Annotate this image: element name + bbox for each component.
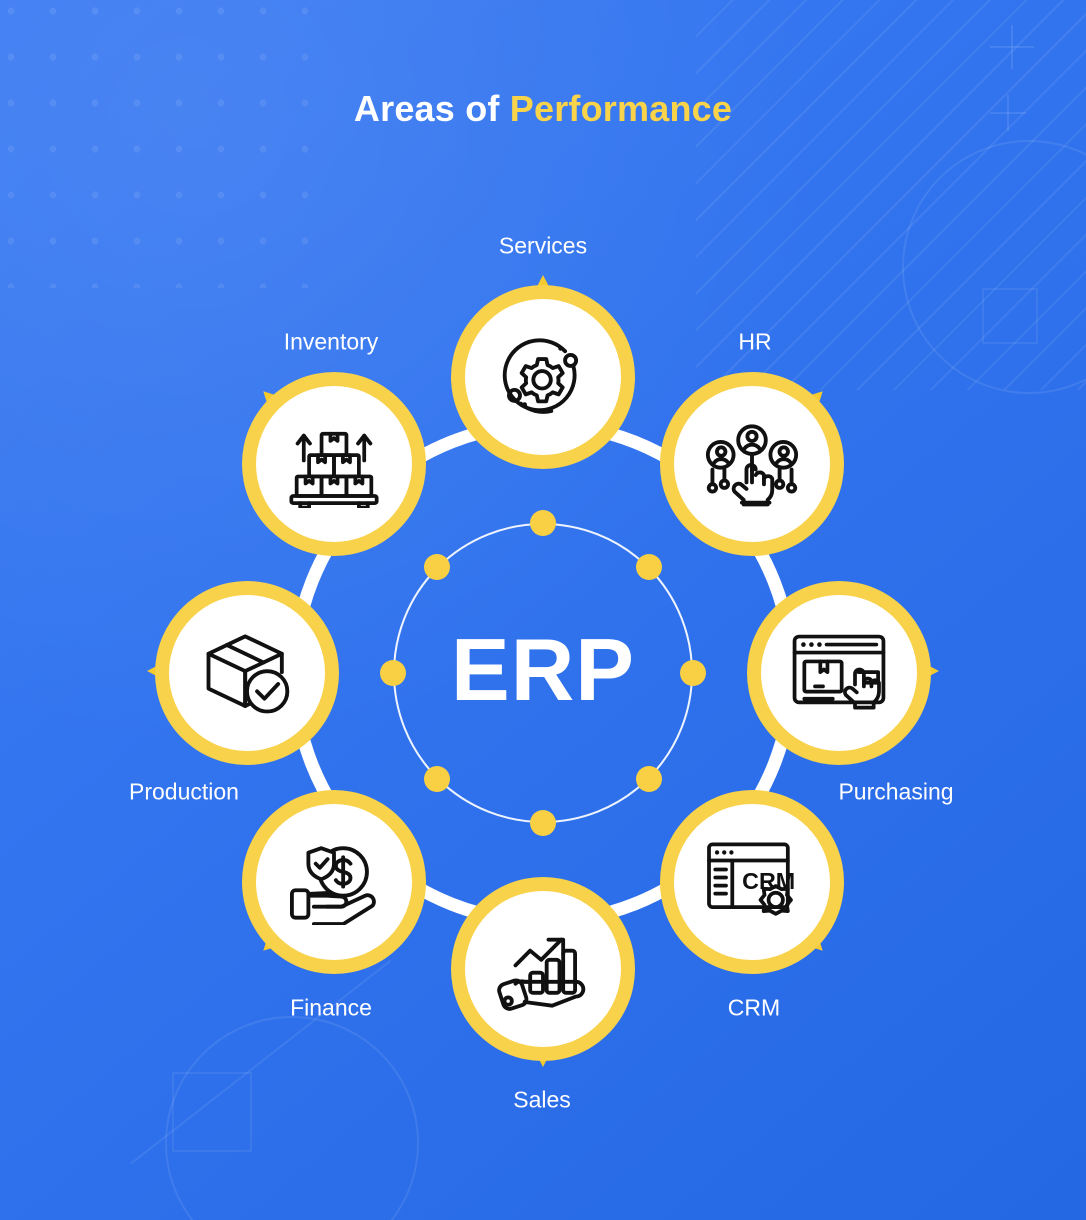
node-pin bbox=[242, 372, 426, 556]
node-pin bbox=[660, 372, 844, 556]
circle-outline-decoration bbox=[902, 140, 1086, 394]
node-label-purchasing: Purchasing bbox=[838, 779, 953, 806]
infographic-canvas: Areas of Performance ERP bbox=[0, 0, 1086, 1220]
ring-dot bbox=[636, 554, 662, 580]
crm-dashboard-icon: CRM bbox=[674, 804, 830, 960]
gear-orbit-icon bbox=[465, 299, 621, 455]
node-pin bbox=[242, 790, 426, 974]
online-order-icon bbox=[761, 595, 917, 751]
node-disc bbox=[451, 285, 635, 469]
square-outline-decoration bbox=[982, 288, 1038, 344]
title-highlight: Performance bbox=[510, 88, 732, 129]
people-network-icon bbox=[674, 386, 830, 542]
node-pin bbox=[747, 581, 931, 765]
dot-grid-pattern bbox=[0, 0, 320, 288]
node-pin bbox=[155, 581, 339, 765]
node-disc bbox=[451, 877, 635, 1061]
node-disc bbox=[747, 581, 931, 765]
node-disc bbox=[155, 581, 339, 765]
stacked-boxes-icon bbox=[256, 386, 412, 542]
node-label-crm: CRM bbox=[728, 995, 780, 1022]
sales-growth-icon bbox=[465, 891, 621, 1047]
node-disc bbox=[242, 372, 426, 556]
node-disc: CRM bbox=[660, 790, 844, 974]
center-label: ERP bbox=[383, 620, 703, 720]
node-label-sales: Sales bbox=[513, 1087, 571, 1114]
circle-outline-decoration bbox=[165, 1016, 419, 1220]
node-label-production: Production bbox=[129, 779, 239, 806]
node-label-services: Services bbox=[499, 233, 587, 260]
box-check-icon bbox=[169, 595, 325, 751]
ring-dot bbox=[680, 660, 706, 686]
ring-dot bbox=[380, 660, 406, 686]
node-pin: CRM bbox=[660, 790, 844, 974]
square-outline-decoration bbox=[172, 1072, 252, 1152]
ring-dot bbox=[530, 810, 556, 836]
node-label-inventory: Inventory bbox=[284, 329, 379, 356]
money-shield-icon bbox=[256, 804, 412, 960]
node-label-finance: Finance bbox=[290, 995, 372, 1022]
node-disc bbox=[242, 790, 426, 974]
page-title: Areas of Performance bbox=[0, 88, 1086, 130]
node-label-hr: HR bbox=[738, 329, 771, 356]
ring-dot bbox=[530, 510, 556, 536]
ring-dot bbox=[424, 554, 450, 580]
diagonal-line-decoration bbox=[130, 960, 391, 1165]
node-disc bbox=[660, 372, 844, 556]
node-pin bbox=[451, 285, 635, 469]
plus-decoration-icon bbox=[990, 25, 1034, 69]
ring-dot bbox=[424, 766, 450, 792]
node-pin bbox=[451, 877, 635, 1061]
title-plain: Areas of bbox=[354, 88, 510, 129]
ring-dot bbox=[636, 766, 662, 792]
